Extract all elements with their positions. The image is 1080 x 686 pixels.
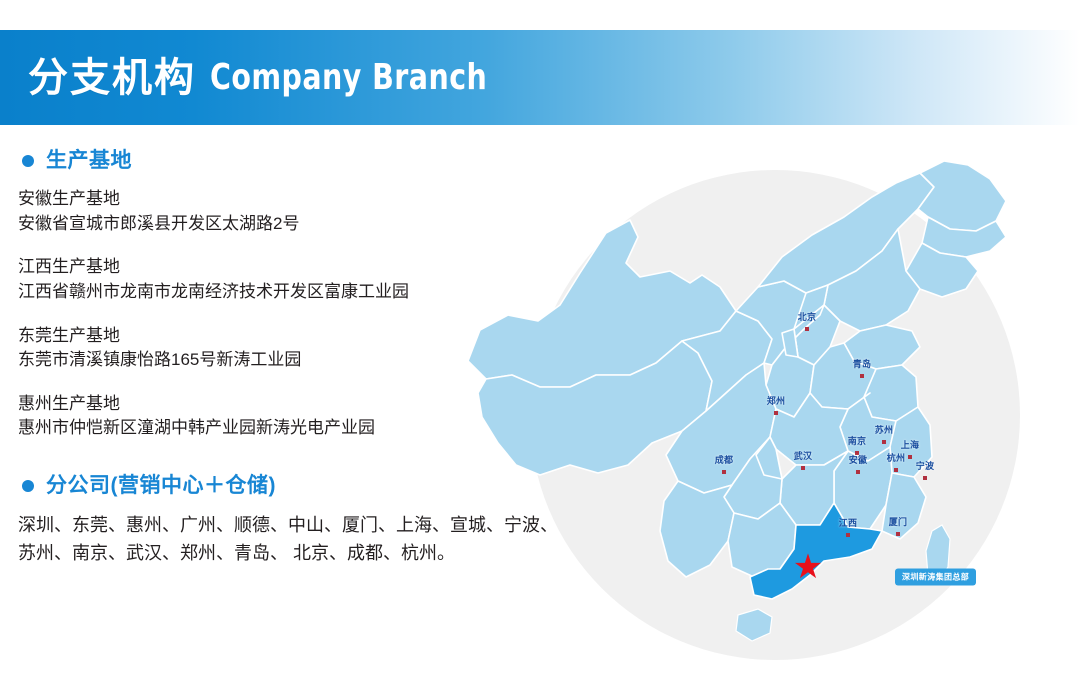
map-label-qingdao: 青岛: [853, 357, 872, 370]
map-label-beijing: 北京: [798, 310, 817, 323]
map-dot-wuhan: [801, 466, 805, 470]
branch-title: 分公司(营销中心＋仓储): [46, 475, 276, 496]
map-label-hangzhou: 杭州: [887, 451, 906, 464]
map-label-nanjing: 南京: [848, 434, 867, 447]
map-label-ningbo: 宁波: [916, 459, 935, 472]
map-dot-anhui: [856, 470, 860, 474]
bullet-icon: [22, 480, 34, 492]
banner-title-group: 分支机构 Company Branch: [28, 30, 525, 125]
map-dot-shanghai: [908, 455, 912, 459]
page-title-en: Company Branch: [210, 60, 487, 96]
map-label-zhengzhou: 郑州: [767, 394, 786, 407]
production-title: 生产基地: [46, 150, 132, 171]
china-map-svg: [420, 125, 1080, 686]
map-dot-beijing: [805, 327, 809, 331]
map-dot-zhengzhou: [774, 411, 778, 415]
bullet-icon: [22, 155, 34, 167]
map-dot-xiamen: [896, 532, 900, 536]
map-label-shanghai: 上海: [901, 438, 920, 451]
map-dot-jiangxi: [846, 533, 850, 537]
page-banner: 分支机构 Company Branch: [0, 30, 1080, 125]
map-label-anhui: 安徽: [849, 453, 868, 466]
map-dot-suzhou: [882, 440, 886, 444]
page-title-cn: 分支机构: [28, 58, 196, 98]
company-branch-page: 分支机构 Company Branch 生产基地 安徽生产基地 安徽省宣城市郎溪…: [0, 0, 1080, 686]
map-dot-qingdao: [860, 374, 864, 378]
map-label-xiamen: 厦门: [889, 515, 908, 528]
headquarters-star-icon: ★: [793, 550, 823, 584]
map-label-jiangxi: 江西: [839, 516, 858, 529]
map-label-wuhan: 武汉: [794, 449, 813, 462]
map-label-suzhou: 苏州: [875, 423, 894, 436]
map-dot-hangzhou: [894, 468, 898, 472]
map-dot-ningbo: [923, 476, 927, 480]
headquarters-label: 深圳新涛集团总部: [895, 569, 976, 586]
china-map: 北京 青岛 郑州 苏州 南京 上海 武汉 安徽 杭州 宁波 成都 江西 厦门 ★…: [420, 125, 1080, 686]
map-label-chengdu: 成都: [715, 453, 734, 466]
map-dot-chengdu: [722, 470, 726, 474]
